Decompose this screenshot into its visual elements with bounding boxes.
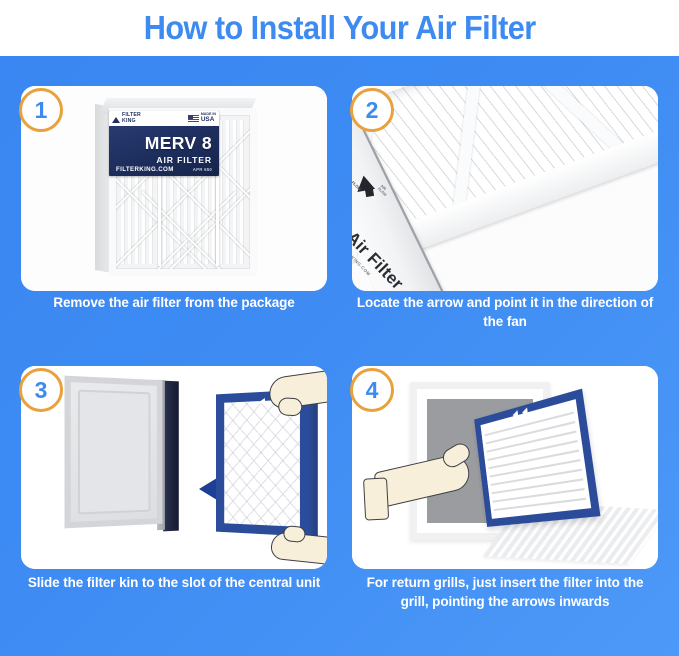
step-1-number-badge: 1 [19,88,63,132]
step-3-caption: Slide the filter kin to the slot of the … [23,574,325,593]
us-flag-icon [188,115,199,122]
label-header-strip: FILTER KING MADE IN USA [109,111,219,126]
poster-header: How to Install Your Air Filter [0,0,679,56]
product-label: FILTER KING MADE IN USA [109,111,219,176]
label-footer-strip: FILTERKING.COM APR 650 [109,166,219,173]
step-2: AIR FLOW AIR FLOW Air Filter FILTERKING.… [340,76,670,354]
step-1: FILTER KING MADE IN USA [9,76,339,354]
unit-front-face [65,376,163,529]
unit-inner-panel [78,390,150,515]
hand-lower [270,531,327,566]
made-in-usa-badge: MADE IN USA [188,113,216,123]
unit-dark-slot [163,381,179,532]
step-3: 3 Slide the filter kin to the slot of th… [9,356,339,634]
merv-rating: MERV 8 [109,133,212,154]
infographic-poster: How to Install Your Air Filter [0,0,679,656]
grill-louvers [484,404,587,514]
step-3-number-badge: 3 [19,368,63,412]
filter-king-logo: FILTER KING [112,113,141,124]
apr-rating-text: APR 650 [193,167,212,172]
filter-corner: AIR FLOW AIR FLOW Air Filter FILTERKING.… [352,86,658,291]
step-2-caption: Locate the arrow and point it in the dir… [354,294,656,332]
label-subtitle: AIR FILTER [109,155,212,165]
step-3-image-card [21,366,327,569]
step-1-caption: Remove the air filter from the package [23,294,325,313]
step-2-image-card: AIR FLOW AIR FLOW Air Filter FILTERKING.… [352,86,658,291]
step-4: 4 For return grills, just insert the fil… [340,356,670,634]
step-4-number-badge: 4 [350,368,394,412]
step-1-image-card: FILTER KING MADE IN USA [21,86,327,291]
air-filter-product: FILTER KING MADE IN USA [95,98,263,276]
step-4-image-card [352,366,658,569]
product-photo-air-filter: FILTER KING MADE IN USA [21,86,327,291]
steps-grid: FILTER KING MADE IN USA [0,56,679,656]
thumb [278,397,303,417]
illustration-sliding-filter-into-central-unit [21,366,327,569]
blue-framed-filter [213,392,323,544]
illustration-inserting-filter-into-return-grill [352,366,658,569]
central-unit-slot [65,378,183,530]
airflow-arrow-tail [365,188,374,197]
step-2-number-badge: 2 [350,88,394,132]
brand-name: FILTER KING [122,113,141,124]
crown-icon [112,115,120,123]
thumb [283,525,307,543]
made-in-usa-text: MADE IN USA [201,113,216,123]
photo-filter-corner-airflow-arrow: AIR FLOW AIR FLOW Air Filter FILTERKING.… [352,86,658,291]
filter-diamond-media [224,399,300,527]
page-title: How to Install Your Air Filter [144,11,536,45]
air-flow-label-right: AIR FLOW [377,184,393,199]
step-4-caption: For return grills, just insert the filte… [354,574,656,612]
wrist [363,477,389,520]
website-text: FILTERKING.COM [116,166,174,173]
